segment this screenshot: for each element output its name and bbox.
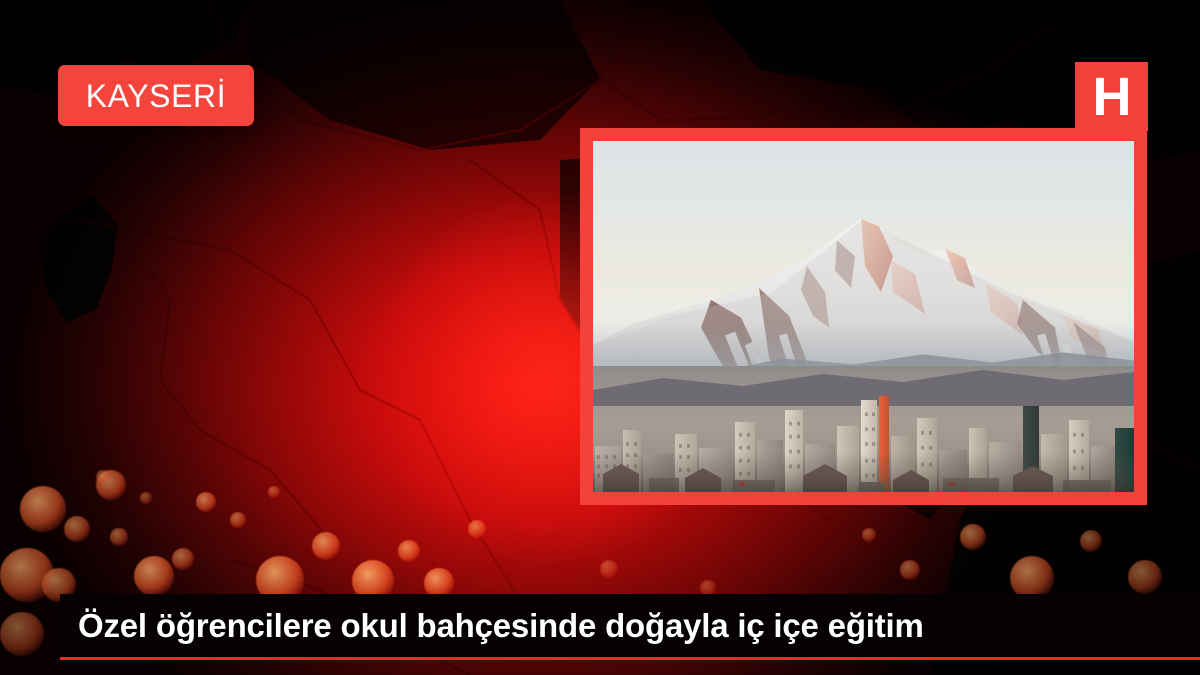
logo-letter-h-icon: H — [1093, 70, 1131, 124]
city-badge[interactable]: KAYSERİ — [58, 65, 254, 126]
photo-city-foreground-shadow — [593, 452, 1134, 492]
city-badge-label: KAYSERİ — [86, 80, 227, 112]
photo-frame[interactable] — [580, 128, 1147, 505]
haberler-h-logo[interactable]: H — [1075, 62, 1148, 131]
kayseri-erciyes-photo — [593, 141, 1134, 492]
caption-bar: Özel öğrencilere okul bahçesinde doğayla… — [60, 594, 1200, 660]
photo-cityscape — [593, 366, 1134, 492]
headline-text: Özel öğrencilere okul bahçesinde doğayla… — [60, 607, 924, 645]
news-card: KAYSERİ — [0, 0, 1200, 675]
